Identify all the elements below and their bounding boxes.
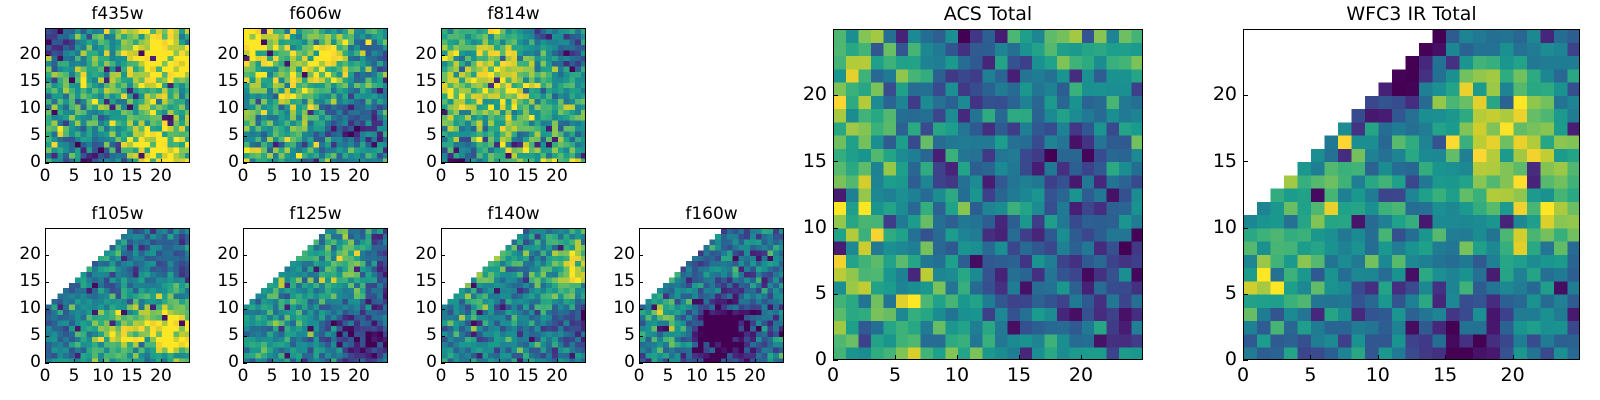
ytick-label-wfc3-ir-total-5: 5 (1197, 282, 1237, 304)
ytick-mark-wfc3-ir-total-10 (1243, 228, 1248, 229)
ytick-label-wfc3-ir-total-20: 20 (1197, 83, 1237, 105)
xtick-label-wfc3-ir-total-10: 10 (1358, 364, 1398, 386)
ytick-mark-wfc3-ir-total-20 (1243, 95, 1248, 96)
ytick-label-wfc3-ir-total-0: 0 (1197, 348, 1237, 370)
ytick-label-wfc3-ir-total-10: 10 (1197, 216, 1237, 238)
xtick-label-wfc3-ir-total-15: 15 (1425, 364, 1465, 386)
xtick-mark-wfc3-ir-total-20 (1513, 355, 1514, 360)
panel-wfc3-ir-total: WFC3 IR Total0055101015152020 (0, 0, 1600, 400)
xtick-mark-wfc3-ir-total-15 (1445, 355, 1446, 360)
ytick-mark-wfc3-ir-total-0 (1243, 360, 1248, 361)
ytick-label-wfc3-ir-total-15: 15 (1197, 150, 1237, 172)
panel-title-wfc3-ir-total: WFC3 IR Total (1243, 3, 1580, 25)
xtick-label-wfc3-ir-total-5: 5 (1290, 364, 1330, 386)
xtick-mark-wfc3-ir-total-5 (1310, 355, 1311, 360)
ytick-mark-wfc3-ir-total-15 (1243, 161, 1248, 162)
heatmap-image-wfc3-ir-total (1244, 30, 1580, 360)
ytick-mark-wfc3-ir-total-5 (1243, 294, 1248, 295)
xtick-mark-wfc3-ir-total-10 (1378, 355, 1379, 360)
plot-area-wfc3-ir-total (1243, 29, 1580, 360)
xtick-label-wfc3-ir-total-20: 20 (1493, 364, 1533, 386)
